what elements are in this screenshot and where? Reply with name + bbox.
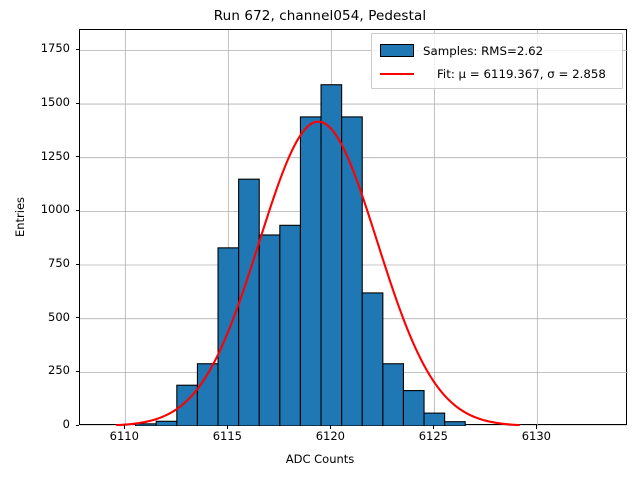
x-tick-mark [433,425,434,429]
histogram-bar [136,424,157,426]
x-tick-label: 6110 [94,429,154,443]
y-tick-label: 250 [10,363,70,377]
plot-svg [80,30,628,426]
x-tick-mark [227,425,228,429]
histogram-bar [362,293,383,426]
legend-box: Samples: RMS=2.62 Fit: μ = 6119.367, σ =… [371,33,623,89]
y-tick-mark [76,156,80,157]
x-tick-mark [124,425,125,429]
y-tick-mark [76,49,80,50]
histogram-bar [424,413,445,426]
y-tick-mark [76,264,80,265]
y-tick-label: 1500 [10,95,70,109]
x-tick-label: 6120 [300,429,360,443]
x-tick-label: 6125 [403,429,463,443]
legend-entry-fit: Fit: μ = 6119.367, σ = 2.858 [380,62,614,85]
histogram-bar [259,235,280,426]
y-axis-label: Entries [13,167,27,267]
legend-entry-samples: Samples: RMS=2.62 [380,39,614,62]
legend-label-fit: Fit: μ = 6119.367, σ = 2.858 [437,67,606,81]
y-tick-mark [76,425,80,426]
chart-title: Run 672, channel054, Pedestal [0,8,640,24]
x-tick-label: 6115 [197,429,257,443]
y-tick-label: 1750 [10,41,70,55]
histogram-bar [280,225,301,426]
y-tick-label: 0 [10,417,70,431]
legend-patch-icon [380,44,414,57]
histogram-bar [403,391,424,426]
x-tick-mark [330,425,331,429]
x-tick-mark [536,425,537,429]
legend-line-icon [380,67,414,80]
histogram-bar [218,248,239,426]
histogram-bar [300,117,321,426]
x-tick-label: 6130 [506,429,566,443]
y-tick-label: 1250 [10,149,70,163]
y-tick-mark [76,103,80,104]
histogram-bar [445,422,466,426]
y-tick-mark [76,371,80,372]
y-tick-label: 500 [10,310,70,324]
legend-label-samples: Samples: RMS=2.62 [423,44,543,58]
histogram-bar [239,179,260,426]
y-tick-mark [76,210,80,211]
x-axis-label: ADC Counts [0,452,640,466]
histogram-bar [342,117,363,426]
histogram-bar [383,364,404,426]
histogram-bar [156,421,177,426]
figure-canvas: Run 672, channel054, Pedestal 6110611561… [0,0,640,480]
y-tick-mark [76,317,80,318]
histogram-bar [321,85,342,426]
